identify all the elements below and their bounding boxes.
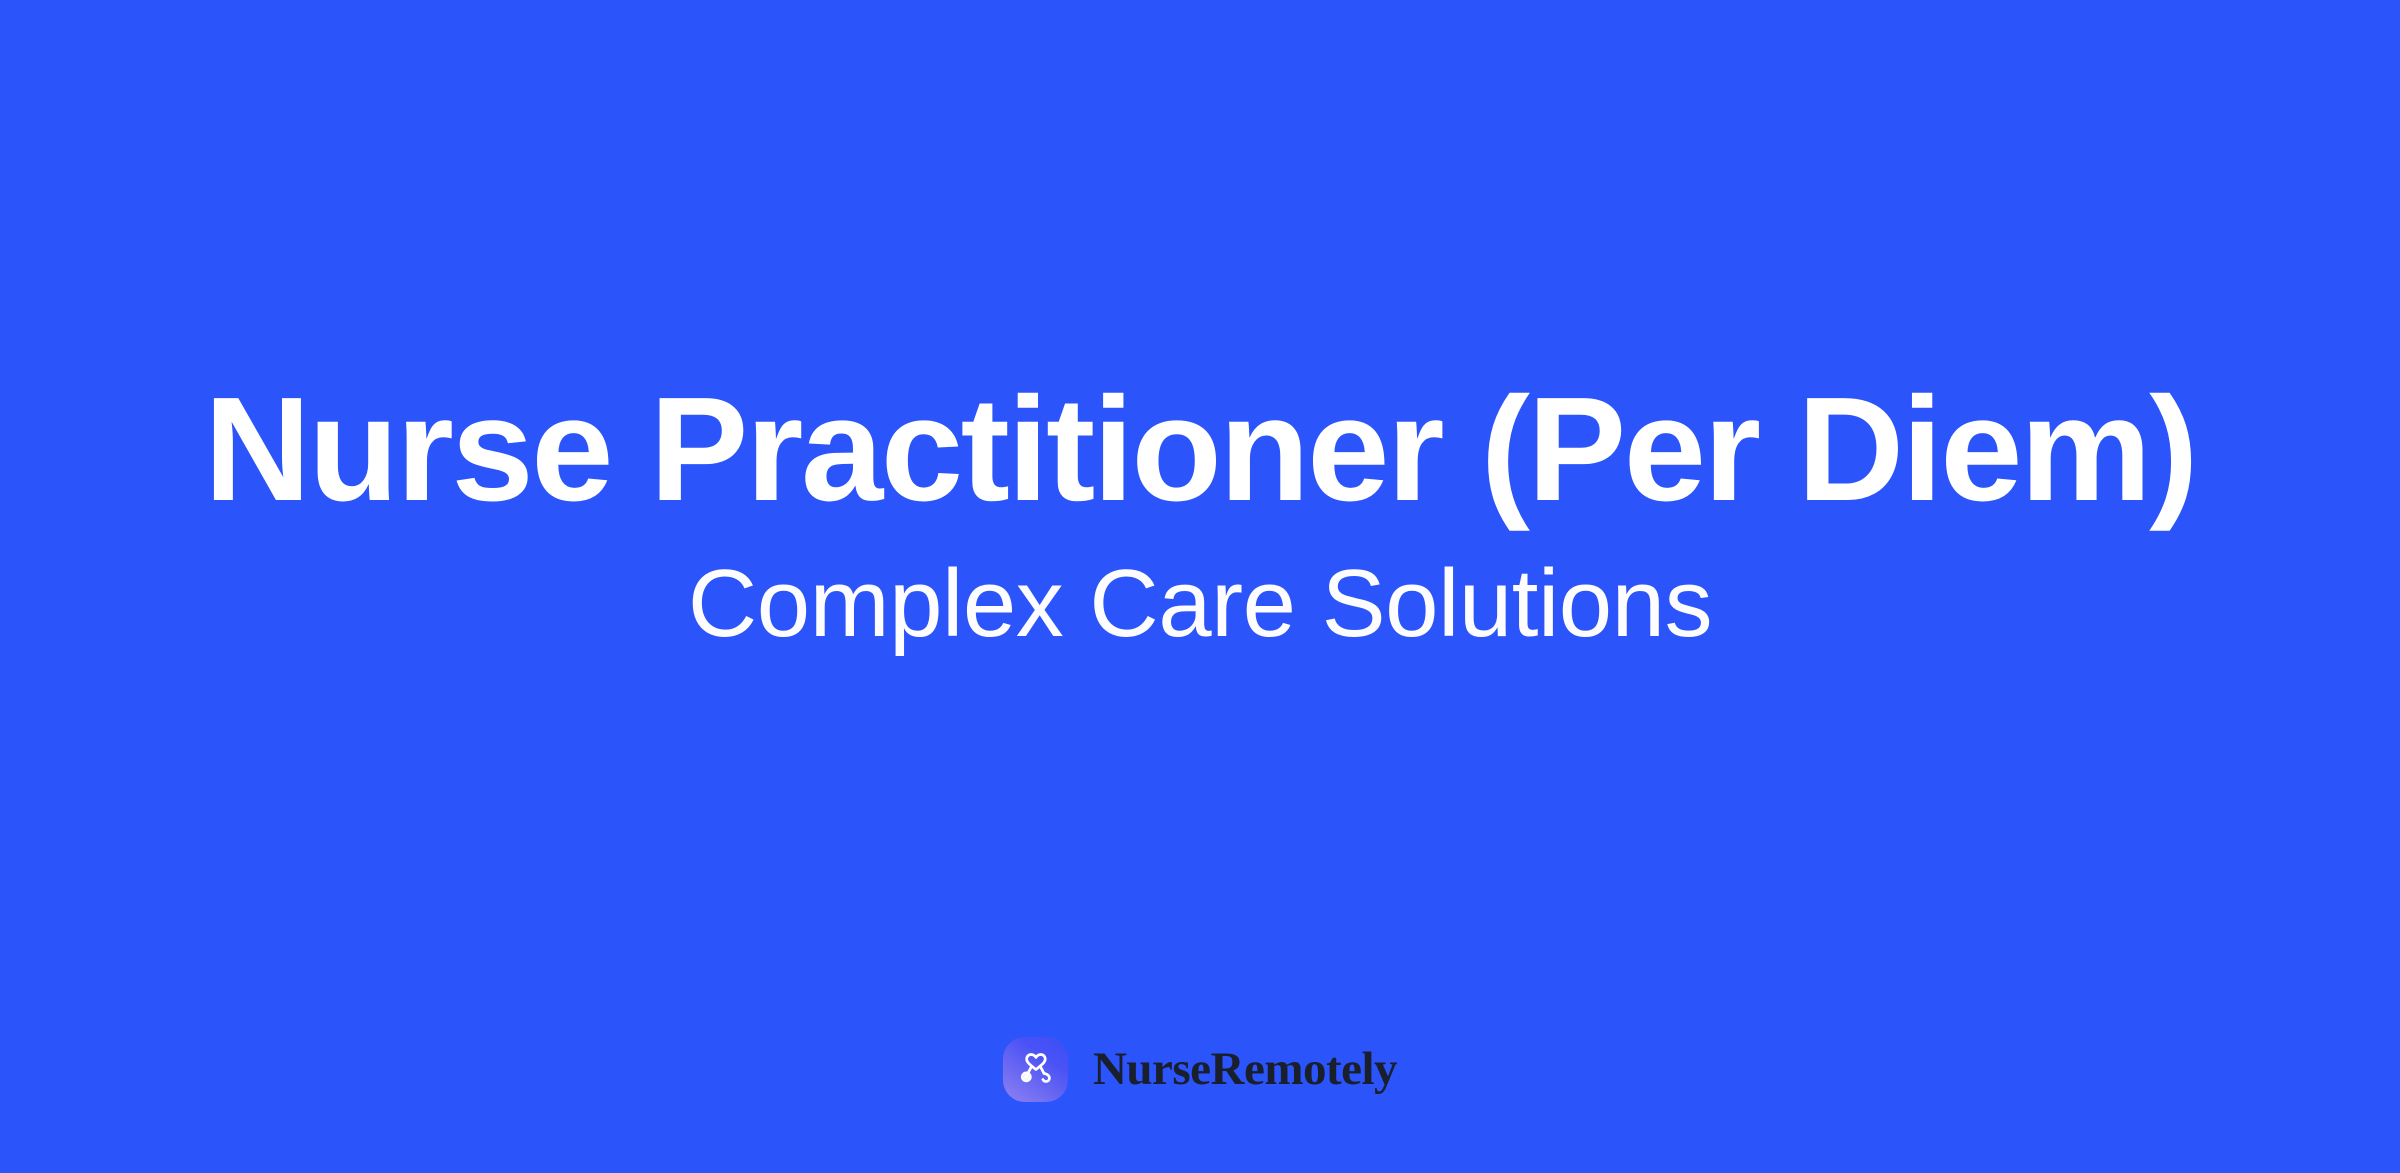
job-title: Nurse Practitioner (Per Diem) (50, 376, 2350, 524)
hero-block: Nurse Practitioner (Per Diem) Complex Ca… (0, 0, 2400, 1173)
job-subtitle: Complex Care Solutions (50, 556, 2350, 652)
brand-lockup: NurseRemotely (1003, 1036, 1397, 1102)
brand-logo-badge (1003, 1037, 1068, 1102)
job-card-slide: Nurse Practitioner (Per Diem) Complex Ca… (0, 0, 2400, 1173)
heart-stethoscope-icon (1014, 1048, 1056, 1090)
brand-wordmark: NurseRemotely (1093, 1046, 1397, 1093)
